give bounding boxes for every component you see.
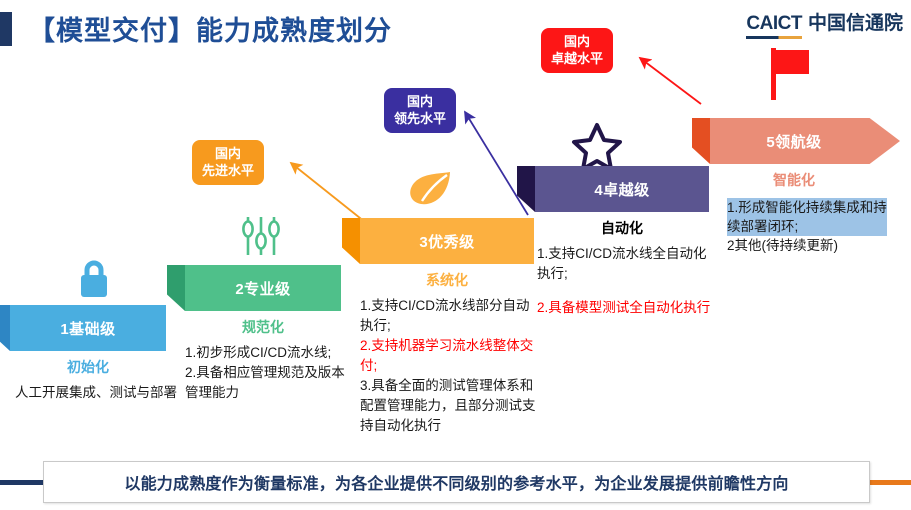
summary-banner: 以能力成熟度作为衡量标准，为各企业提供不同级别的参考水平，为企业发展提供前瞻性方… [43,461,870,503]
level-5-subtitle: 智能化 [710,170,878,190]
level-1-band[interactable]: 1基础级 [10,305,166,351]
level-5-description: 1.形成智能化持续集成和持续部署闭环; 2其他(待持续更新) [727,198,887,255]
level-3-description: 1.支持CI/CD流水线部分自动执行; 2.支持机器学习流水线整体交付; 3.具… [360,296,536,436]
level-2-desc-line: 2.具备相应管理规范及版本管理能力 [185,363,357,403]
level-4-label: 4卓越级 [594,179,649,200]
level-5-band[interactable]: 5领航级 [710,118,900,164]
level-3-desc-line: 1.支持CI/CD流水线部分自动执行; [360,296,536,336]
level-4-band[interactable]: 4卓越级 [535,166,709,212]
level-2-band[interactable]: 2专业级 [185,265,341,311]
level-1-subtitle: 初始化 [10,357,166,377]
red-flag-icon [769,48,811,100]
level-5-side-face [692,118,710,164]
level-5-desc-line: 2其他(待持续更新) [727,236,887,255]
level-5-desc-line-selected: 1.形成智能化持续集成和持续部署闭环; [727,198,887,236]
title-accent-bar [0,12,12,46]
sliders-icon [240,215,282,257]
level-4-subtitle: 自动化 [535,218,709,238]
callout-excellent-level[interactable]: 国内 卓越水平 [541,28,613,73]
level-1-desc-line: 人工开展集成、测试与部署 [15,383,185,403]
level-2-side-face [167,265,185,311]
level-2-subtitle: 规范化 [185,317,341,337]
level-1-side-face [0,305,10,351]
star-icon [571,122,623,172]
level-3-desc-line-highlight: 2.支持机器学习流水线整体交付; [360,336,536,376]
level-5-label: 5领航级 [766,131,821,152]
level-2-desc-line: 1.初步形成CI/CD流水线; [185,343,357,363]
level-4-desc-line-highlight: 2.具备模型测试全自动化执行 [537,298,713,318]
page-title: 【模型交付】能力成熟度划分 [28,9,392,48]
level-3-label: 3优秀级 [419,231,474,252]
callout-leading-level[interactable]: 国内 领先水平 [384,88,456,133]
brand-abbr: CAICT [746,14,802,39]
level-3-subtitle: 系统化 [360,270,534,290]
level-1-label: 1基础级 [60,318,115,339]
level-2-description: 1.初步形成CI/CD流水线; 2.具备相应管理规范及版本管理能力 [185,343,357,403]
level-3-side-face [342,218,360,264]
lock-icon [76,258,112,300]
level-4-description: 1.支持CI/CD流水线全自动化执行; 2.具备模型测试全自动化执行 [537,244,713,318]
level-2-label: 2专业级 [235,278,290,299]
callout-advanced-level[interactable]: 国内 先进水平 [192,140,264,185]
level-3-desc-line: 3.具备全面的测试管理体系和配置管理能力，且部分测试支持自动化执行 [360,376,536,436]
level-4-desc-line: 1.支持CI/CD流水线全自动化执行; [537,244,713,284]
level-1-description: 人工开展集成、测试与部署 [15,383,185,403]
slide-canvas: 【模型交付】能力成熟度划分 CAICT 中国信通院 国内 先进水平 国内 领先 [0,0,911,510]
level-4-side-face [517,166,535,212]
brand-logo: CAICT 中国信通院 [746,14,903,39]
level-3-band[interactable]: 3优秀级 [360,218,534,264]
leaf-icon [407,168,453,208]
summary-banner-text: 以能力成熟度作为衡量标准，为各企业提供不同级别的参考水平，为企业发展提供前瞻性方… [124,470,788,494]
banner-rule-right [866,480,911,485]
brand-name-cn: 中国信通院 [808,14,903,34]
